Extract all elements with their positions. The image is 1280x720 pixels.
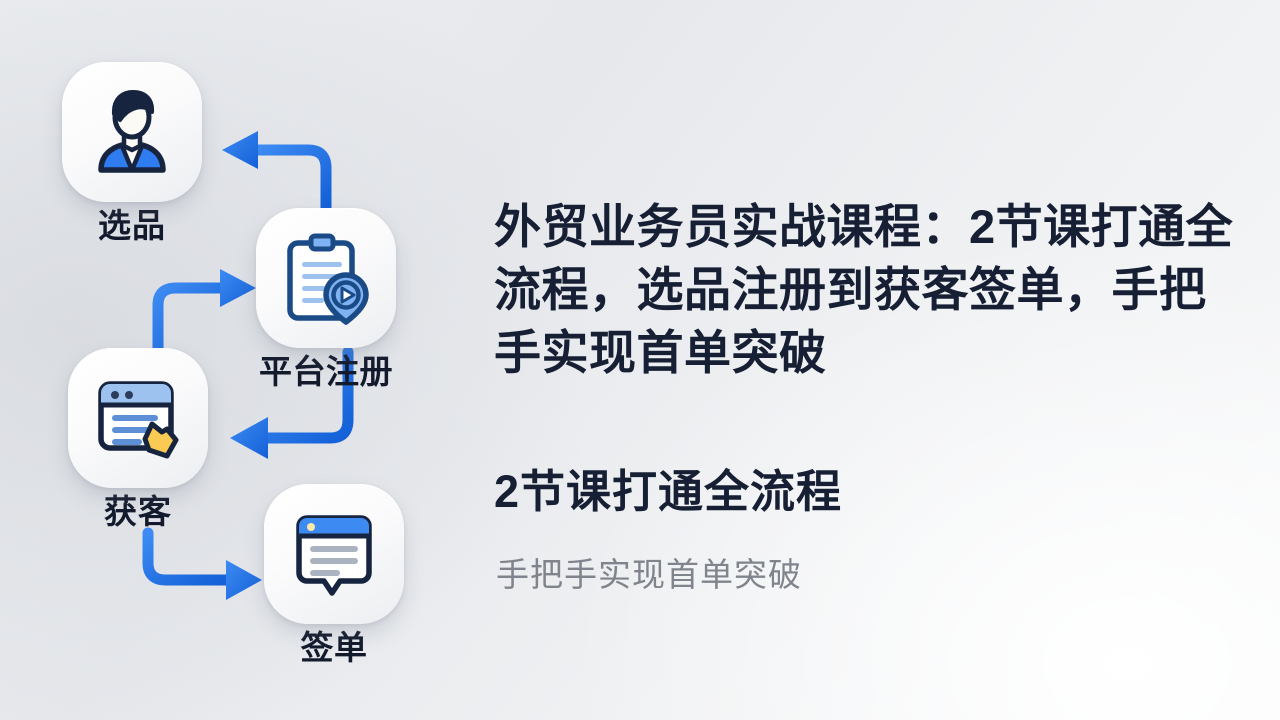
arrow-huoke-to-pingtai <box>158 269 256 350</box>
poster-canvas: 选品 <box>0 0 1280 720</box>
flow-node-label: 签单 <box>260 630 408 666</box>
flow-node-qiandan[interactable]: 签单 <box>260 484 408 666</box>
flow-node-label: 选品 <box>58 208 206 244</box>
flow-node-huoke[interactable]: 获客 <box>64 348 212 530</box>
businessman-icon <box>84 84 180 180</box>
speech-card-icon <box>287 507 381 601</box>
flow-node-label: 平台注册 <box>252 354 400 390</box>
page-tagline: 手把手实现首单突破 <box>496 548 802 596</box>
flow-node-xuanpin[interactable]: 选品 <box>58 62 206 244</box>
browser-cursor-icon <box>90 370 186 466</box>
arrow-huoke-to-qiandan <box>148 533 262 600</box>
text-column: 外贸业务员实战课程：2节课打通全流程，选品注册到获客签单，手把手实现首单突破 2… <box>494 0 1264 720</box>
clipboard-pin-play-icon <box>277 229 375 327</box>
flow-node-pingtai[interactable]: 平台注册 <box>252 208 400 390</box>
flow-node-tile <box>264 484 404 624</box>
flow-node-label: 获客 <box>64 494 212 530</box>
page-subtitle: 2节课打通全流程 <box>494 455 842 520</box>
flow-node-tile <box>256 208 396 348</box>
arrow-pingtai-to-xuanpin <box>222 131 326 208</box>
workflow-diagram: 选品 <box>0 0 480 720</box>
page-title: 外贸业务员实战课程：2节课打通全流程，选品注册到获客签单，手把手实现首单突破 <box>494 196 1246 385</box>
flow-node-tile <box>68 348 208 488</box>
flow-node-tile <box>62 62 202 202</box>
